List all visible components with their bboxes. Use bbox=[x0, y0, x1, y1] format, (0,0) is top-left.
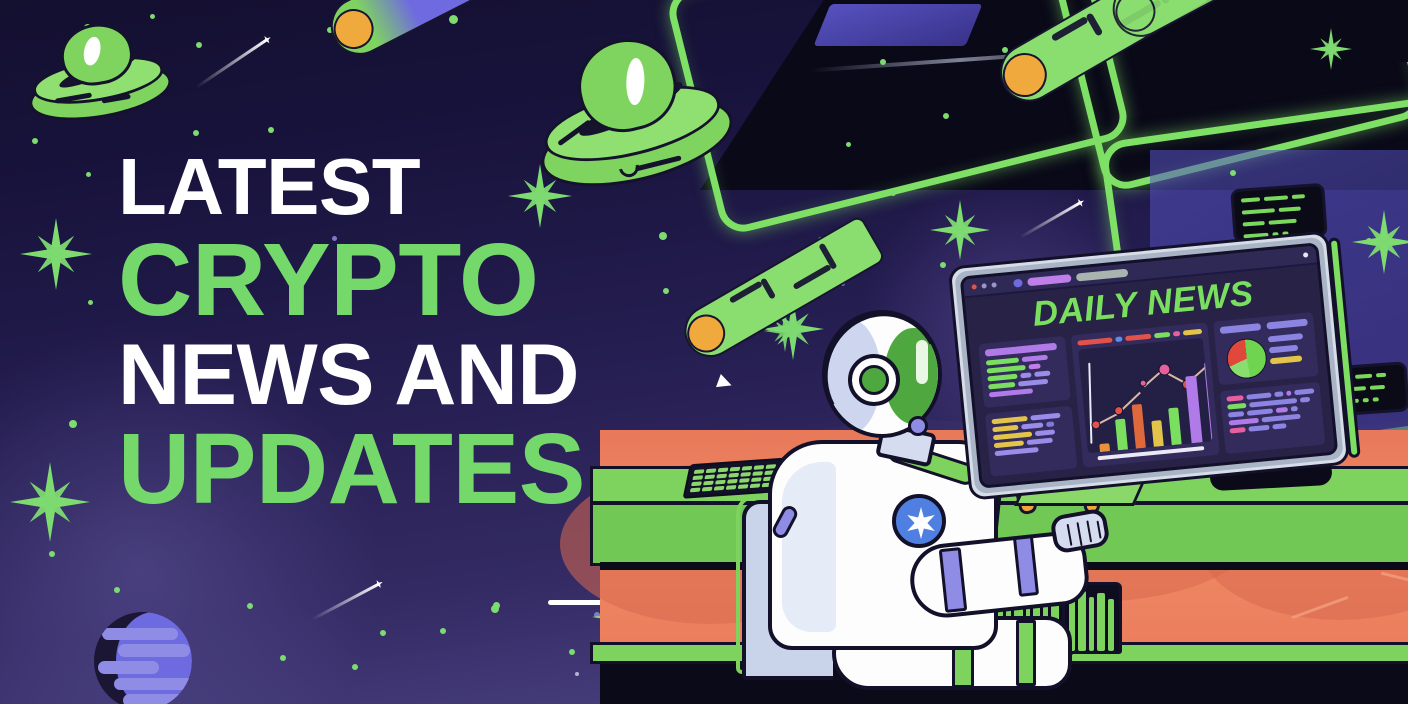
chart-y-axis bbox=[1089, 363, 1093, 444]
browser-tab-1[interactable] bbox=[1013, 278, 1023, 287]
sparkle-star-top-right bbox=[1310, 28, 1352, 70]
headline-block: LATEST CRYPTO NEWS AND UPDATES bbox=[118, 148, 738, 522]
browser-dot-minimize[interactable] bbox=[981, 283, 986, 288]
browser-tab-2[interactable] bbox=[1027, 274, 1072, 286]
comet-purple bbox=[321, 0, 526, 65]
sparkle-star-left-lower bbox=[10, 462, 90, 542]
planet-striped bbox=[94, 612, 192, 704]
sparkle-star-right bbox=[1352, 210, 1408, 274]
space-illustration-banner: LATEST CRYPTO NEWS AND UPDATES bbox=[0, 0, 1408, 704]
headline-line-4: UPDATES bbox=[118, 421, 738, 518]
headline-line-2: CRYPTO bbox=[118, 230, 738, 330]
widget-list-yellow bbox=[985, 405, 1078, 477]
widget-list-mixed bbox=[1219, 381, 1325, 454]
monitor[interactable]: DAILY NEWS bbox=[948, 230, 1351, 501]
leg-stripe-green-2 bbox=[1016, 620, 1036, 686]
mission-badge bbox=[892, 494, 946, 548]
widget-column-right bbox=[1213, 312, 1326, 454]
dashboard-widgets bbox=[978, 312, 1325, 477]
sparkle-star-upper-mid bbox=[930, 200, 990, 260]
sparkle-star-left-upper bbox=[20, 218, 92, 290]
helmet-connector bbox=[908, 416, 928, 436]
window-pane-blue bbox=[814, 4, 983, 46]
widget-pie bbox=[1213, 312, 1319, 385]
shooting-star-top-left bbox=[195, 38, 268, 89]
window-dark-corner bbox=[1196, 0, 1408, 62]
browser-dot-maximize[interactable] bbox=[991, 282, 996, 287]
browser-dot-close[interactable] bbox=[971, 284, 976, 289]
ufo-small bbox=[19, 18, 178, 140]
chart-plot-area bbox=[1079, 338, 1213, 453]
widget-column-left bbox=[978, 336, 1078, 477]
browser-dot-menu[interactable] bbox=[1303, 252, 1308, 257]
widget-chart bbox=[1071, 322, 1219, 467]
pie-chart bbox=[1225, 337, 1269, 381]
browser-tab-3[interactable] bbox=[1076, 268, 1129, 281]
headline-line-1: LATEST bbox=[118, 148, 738, 226]
helmet-earpiece bbox=[848, 354, 900, 406]
monitor-screen: DAILY NEWS bbox=[960, 242, 1339, 489]
widget-list-purple bbox=[978, 336, 1071, 408]
headline-line-3: NEWS AND bbox=[118, 334, 738, 417]
